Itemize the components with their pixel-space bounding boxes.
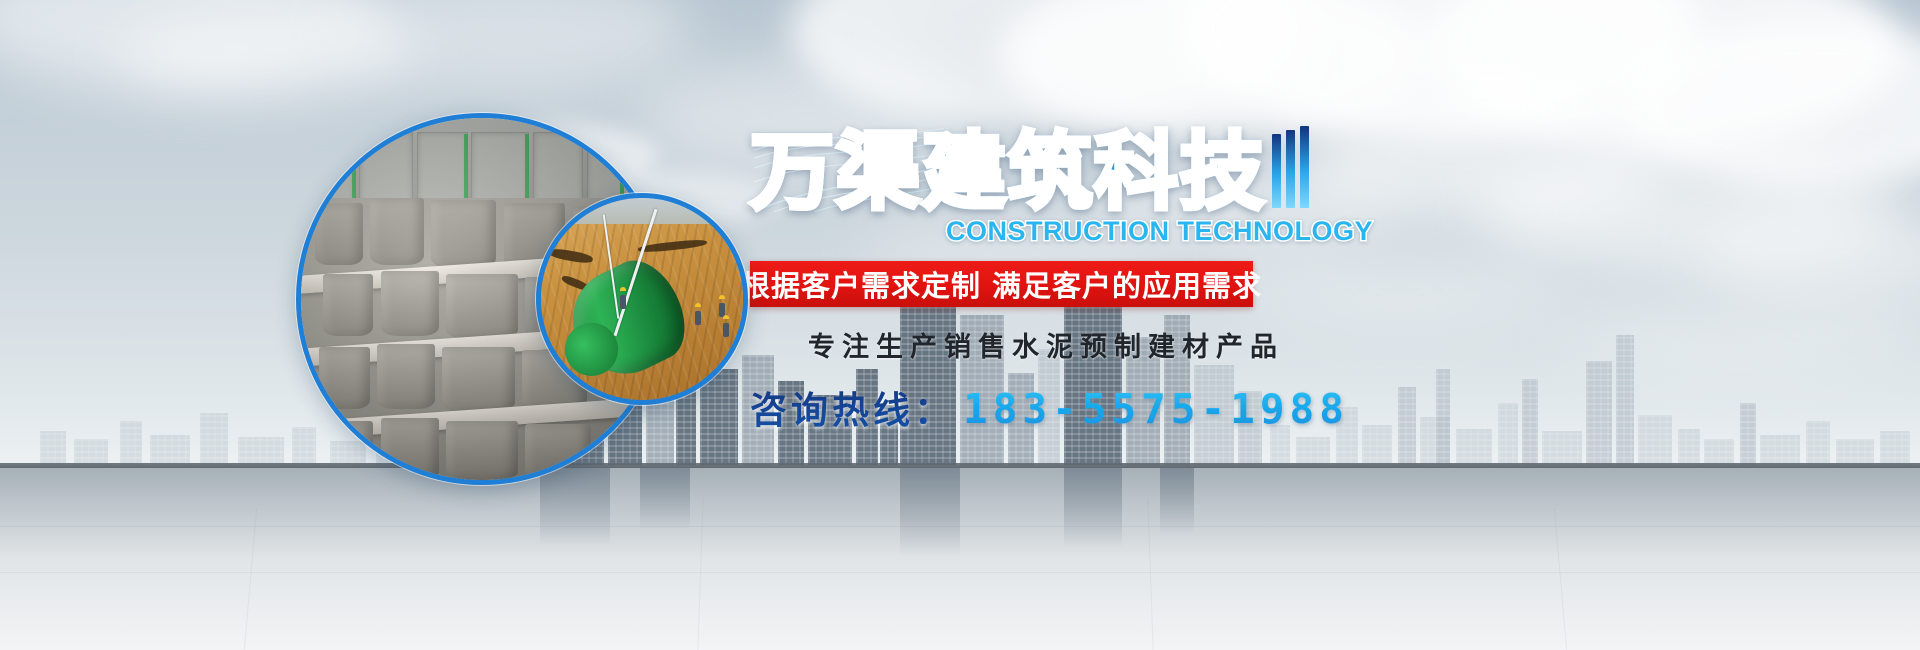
company-title-row: 万渠 建筑科技 — [750, 118, 1910, 214]
marketing-text-block: 万渠 建筑科技 CONSTRUCTION TECHNOLOGY 根据客户需求定制… — [750, 118, 1910, 434]
paved-ground — [0, 468, 1920, 650]
promo-tagline: 专注生产销售水泥预制建材产品 — [808, 325, 1910, 364]
company-name-cn-secondary: 建筑科技 — [922, 130, 1266, 214]
hotline-label: 咨询热线： — [750, 380, 955, 434]
promotional-banner: 万渠 建筑科技 CONSTRUCTION TECHNOLOGY 根据客户需求定制… — [0, 0, 1920, 650]
stripe-accent-icon — [1272, 126, 1314, 208]
product-photo-septic-tank-installation — [536, 193, 748, 405]
promo-red-banner-text: 根据客户需求定制 满足客户的应用需求 — [741, 263, 1262, 305]
company-name-en: CONSTRUCTION TECHNOLOGY — [946, 216, 1910, 247]
hotline-row: 咨询热线： 183-5575-1988 — [750, 380, 1910, 434]
promo-red-banner: 根据客户需求定制 满足客户的应用需求 — [750, 261, 1253, 307]
hotline-number[interactable]: 183-5575-1988 — [963, 385, 1349, 433]
company-name-cn-primary: 万渠 — [750, 130, 922, 214]
